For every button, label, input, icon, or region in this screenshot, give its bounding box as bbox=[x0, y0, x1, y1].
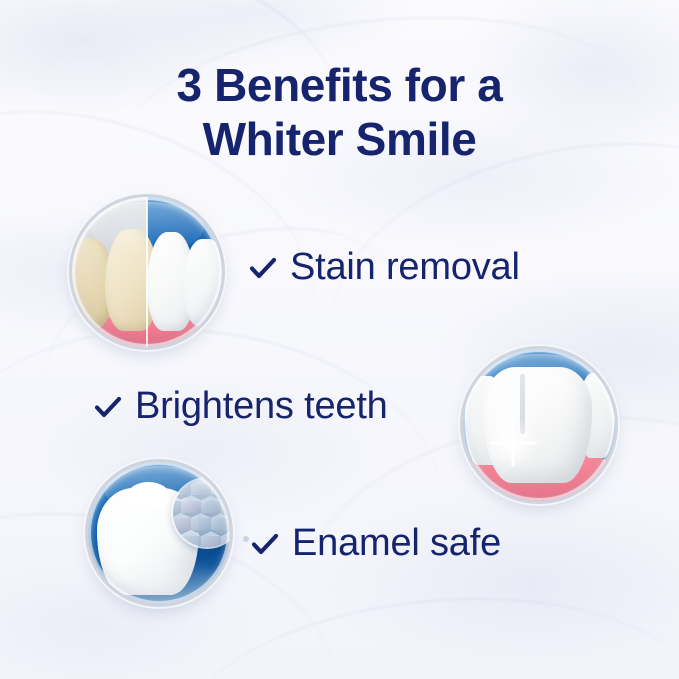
hexagon-grid bbox=[173, 479, 230, 547]
hexagon-cell bbox=[221, 536, 230, 548]
infographic-canvas: 3 Benefits for a Whiter Smile Stain remo… bbox=[0, 0, 679, 679]
decorative-dot bbox=[243, 536, 249, 542]
badge-image-stain bbox=[72, 197, 222, 347]
page-title-line-2: Whiter Smile bbox=[0, 112, 679, 166]
hexagon-cell bbox=[201, 501, 221, 513]
hexagon-cell bbox=[211, 484, 230, 496]
badge-image-bright bbox=[463, 349, 615, 501]
check-mark-icon bbox=[250, 529, 280, 559]
check-mark-icon bbox=[93, 392, 123, 422]
page-title-line-1: 3 Benefits for a bbox=[0, 58, 679, 112]
split-divider bbox=[146, 197, 148, 347]
enamel-shield-circle-icon bbox=[88, 462, 230, 604]
check-mark-icon bbox=[248, 253, 278, 283]
hexagon-cell bbox=[181, 501, 201, 513]
hexagon-cell bbox=[201, 536, 221, 548]
benefit-label: Brightens teeth bbox=[135, 385, 388, 428]
benefit-item-enamel-safe: Enamel safe bbox=[250, 522, 501, 565]
hexagon-magnifier-icon bbox=[173, 479, 230, 547]
hexagon-cell bbox=[173, 484, 191, 496]
badge-image-enamel bbox=[88, 462, 230, 604]
benefit-label: Enamel safe bbox=[292, 522, 501, 565]
hexagon-cell bbox=[181, 536, 201, 548]
before-after-teeth-circle-icon bbox=[72, 197, 222, 347]
hexagon-cell bbox=[191, 518, 211, 530]
marble-vein bbox=[170, 578, 679, 679]
hexagon-cell bbox=[221, 501, 230, 513]
hexagon-cell bbox=[173, 501, 181, 513]
tooth-molar bbox=[483, 367, 592, 483]
page-title: 3 Benefits for a Whiter Smile bbox=[0, 58, 679, 167]
hexagon-cell bbox=[211, 518, 230, 530]
benefit-label: Stain removal bbox=[290, 246, 520, 289]
benefit-item-brightens-teeth: Brightens teeth bbox=[93, 385, 388, 428]
benefit-item-stain-removal: Stain removal bbox=[248, 246, 520, 289]
tooth-white bbox=[183, 239, 222, 326]
hexagon-cell bbox=[191, 484, 211, 496]
hexagon-cell bbox=[173, 518, 191, 530]
bright-molar-circle-icon bbox=[463, 349, 615, 501]
hexagon-cell bbox=[173, 536, 181, 548]
